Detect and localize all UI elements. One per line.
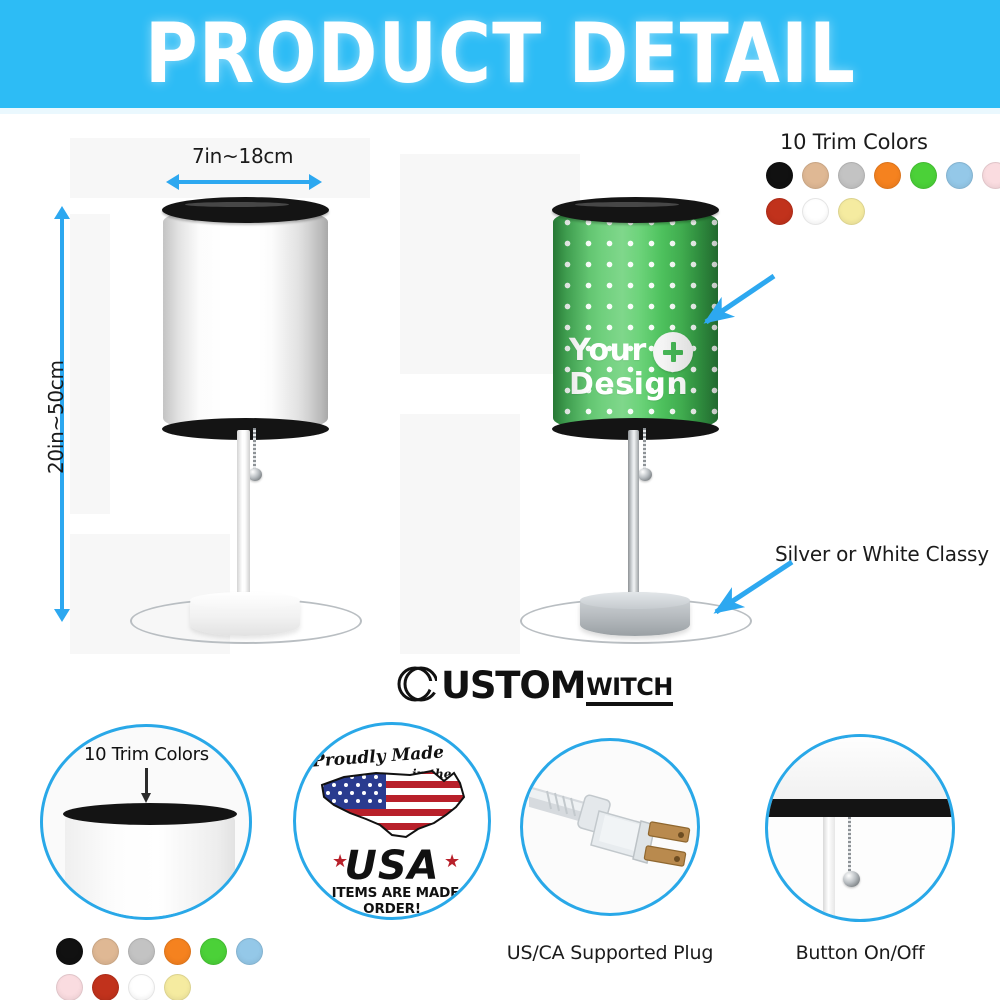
swatch-pink[interactable] (56, 974, 83, 1000)
trim-highlight (185, 202, 289, 207)
power-plug-icon (529, 763, 700, 893)
swatch-black[interactable] (56, 938, 83, 965)
usa-map-flag-icon (314, 763, 478, 845)
white-lamp-pole (237, 430, 250, 606)
brand-name-sub: WITCH (586, 675, 672, 700)
white-lamp-pull-chain[interactable] (253, 428, 256, 472)
usa-star-right: ★ (444, 851, 460, 872)
green-lamp-chain-ball[interactable] (638, 468, 652, 481)
trim-colors-detail-label: 10 Trim Colors (84, 744, 209, 765)
button-detail-pull-chain[interactable] (848, 817, 851, 875)
swatch-light-blue[interactable] (946, 162, 973, 189)
feature-plug-caption: US/CA Supported Plug (500, 942, 720, 964)
button-detail-shade (765, 734, 955, 803)
white-lamp-chain-ball[interactable] (248, 468, 262, 481)
swatch-yellow[interactable] (164, 974, 191, 1000)
white-lamp-shade (163, 206, 328, 434)
white-shade-gloss (163, 206, 328, 434)
design-artwork: Your Design (553, 334, 718, 402)
swatch-red[interactable] (92, 974, 119, 1000)
swatch-white[interactable] (128, 974, 155, 1000)
brand-name-sub-wrap: WITCH (586, 675, 672, 706)
feature-plug-circle (520, 738, 700, 916)
usa-star-left: ★ (332, 851, 348, 872)
brand-underline (586, 702, 672, 706)
base-top-face (580, 592, 690, 609)
globe-c-icon (396, 662, 440, 706)
green-lamp-base (580, 592, 690, 636)
brand-logo: USTOM WITCH (396, 662, 673, 706)
swatch-light-blue[interactable] (236, 938, 263, 965)
swatch-red[interactable] (766, 198, 793, 225)
feature-button-circle (765, 734, 955, 922)
white-lamp-base (190, 592, 300, 636)
swatch-gray[interactable] (838, 162, 865, 189)
trim-color-swatches-bottom (56, 938, 296, 1000)
plus-icon (653, 332, 693, 372)
swatch-pink[interactable] (982, 162, 1000, 189)
trim-colors-callout-label: 10 Trim Colors (780, 130, 928, 154)
design-line-2: Design (569, 368, 718, 402)
white-shade-surface (163, 206, 328, 434)
product-detail-page: PRODUCT DETAIL 7in~18cm 20in~50cm (0, 0, 1000, 1000)
swatch-green[interactable] (200, 938, 227, 965)
swatch-black[interactable] (766, 162, 793, 189)
swatch-green[interactable] (910, 162, 937, 189)
green-shade-top-trim (552, 197, 719, 223)
page-header-banner: PRODUCT DETAIL (0, 0, 1000, 108)
trim-color-swatches-top (766, 162, 1000, 225)
brand-name-main: USTOM (441, 666, 585, 706)
white-shade-top-trim (162, 197, 329, 223)
bg-wash-5 (400, 414, 520, 654)
width-dimension-arrow (178, 180, 310, 184)
swatch-gray[interactable] (128, 938, 155, 965)
button-detail-chain-ball[interactable] (843, 871, 860, 887)
height-dimension-label: 20in~50cm (44, 360, 68, 474)
width-dimension-label: 7in~18cm (192, 144, 293, 168)
swatch-orange[interactable] (164, 938, 191, 965)
trim-highlight (575, 202, 679, 207)
button-detail-pole (823, 817, 835, 922)
trim-colors-down-arrow (145, 768, 148, 794)
swatch-tan[interactable] (802, 162, 829, 189)
trim-detail-shade (65, 815, 235, 920)
made-in-usa-badge: Proudly Made in the (293, 722, 491, 920)
trim-detail-trim-ring (63, 803, 237, 825)
button-detail-trim-bar (765, 799, 955, 817)
swatch-yellow[interactable] (838, 198, 865, 225)
base-top-face (190, 592, 300, 609)
green-lamp-pull-chain[interactable] (643, 428, 646, 472)
swatch-white[interactable] (802, 198, 829, 225)
page-title: PRODUCT DETAIL (144, 6, 855, 102)
lamp-showcase-stage: 7in~18cm 20in~50cm (0, 114, 1000, 660)
base-finish-pointer-arrow (700, 554, 810, 624)
bg-wash-2 (70, 214, 110, 514)
green-lamp-pole (628, 430, 639, 606)
trim-colors-pointer-arrow (688, 274, 798, 344)
swatch-tan[interactable] (92, 938, 119, 965)
swatch-orange[interactable] (874, 162, 901, 189)
feature-button-caption: Button On/Off (760, 942, 960, 964)
usa-line-bottom: ALL ITEMS ARE MADE TO ORDER! (296, 885, 488, 917)
